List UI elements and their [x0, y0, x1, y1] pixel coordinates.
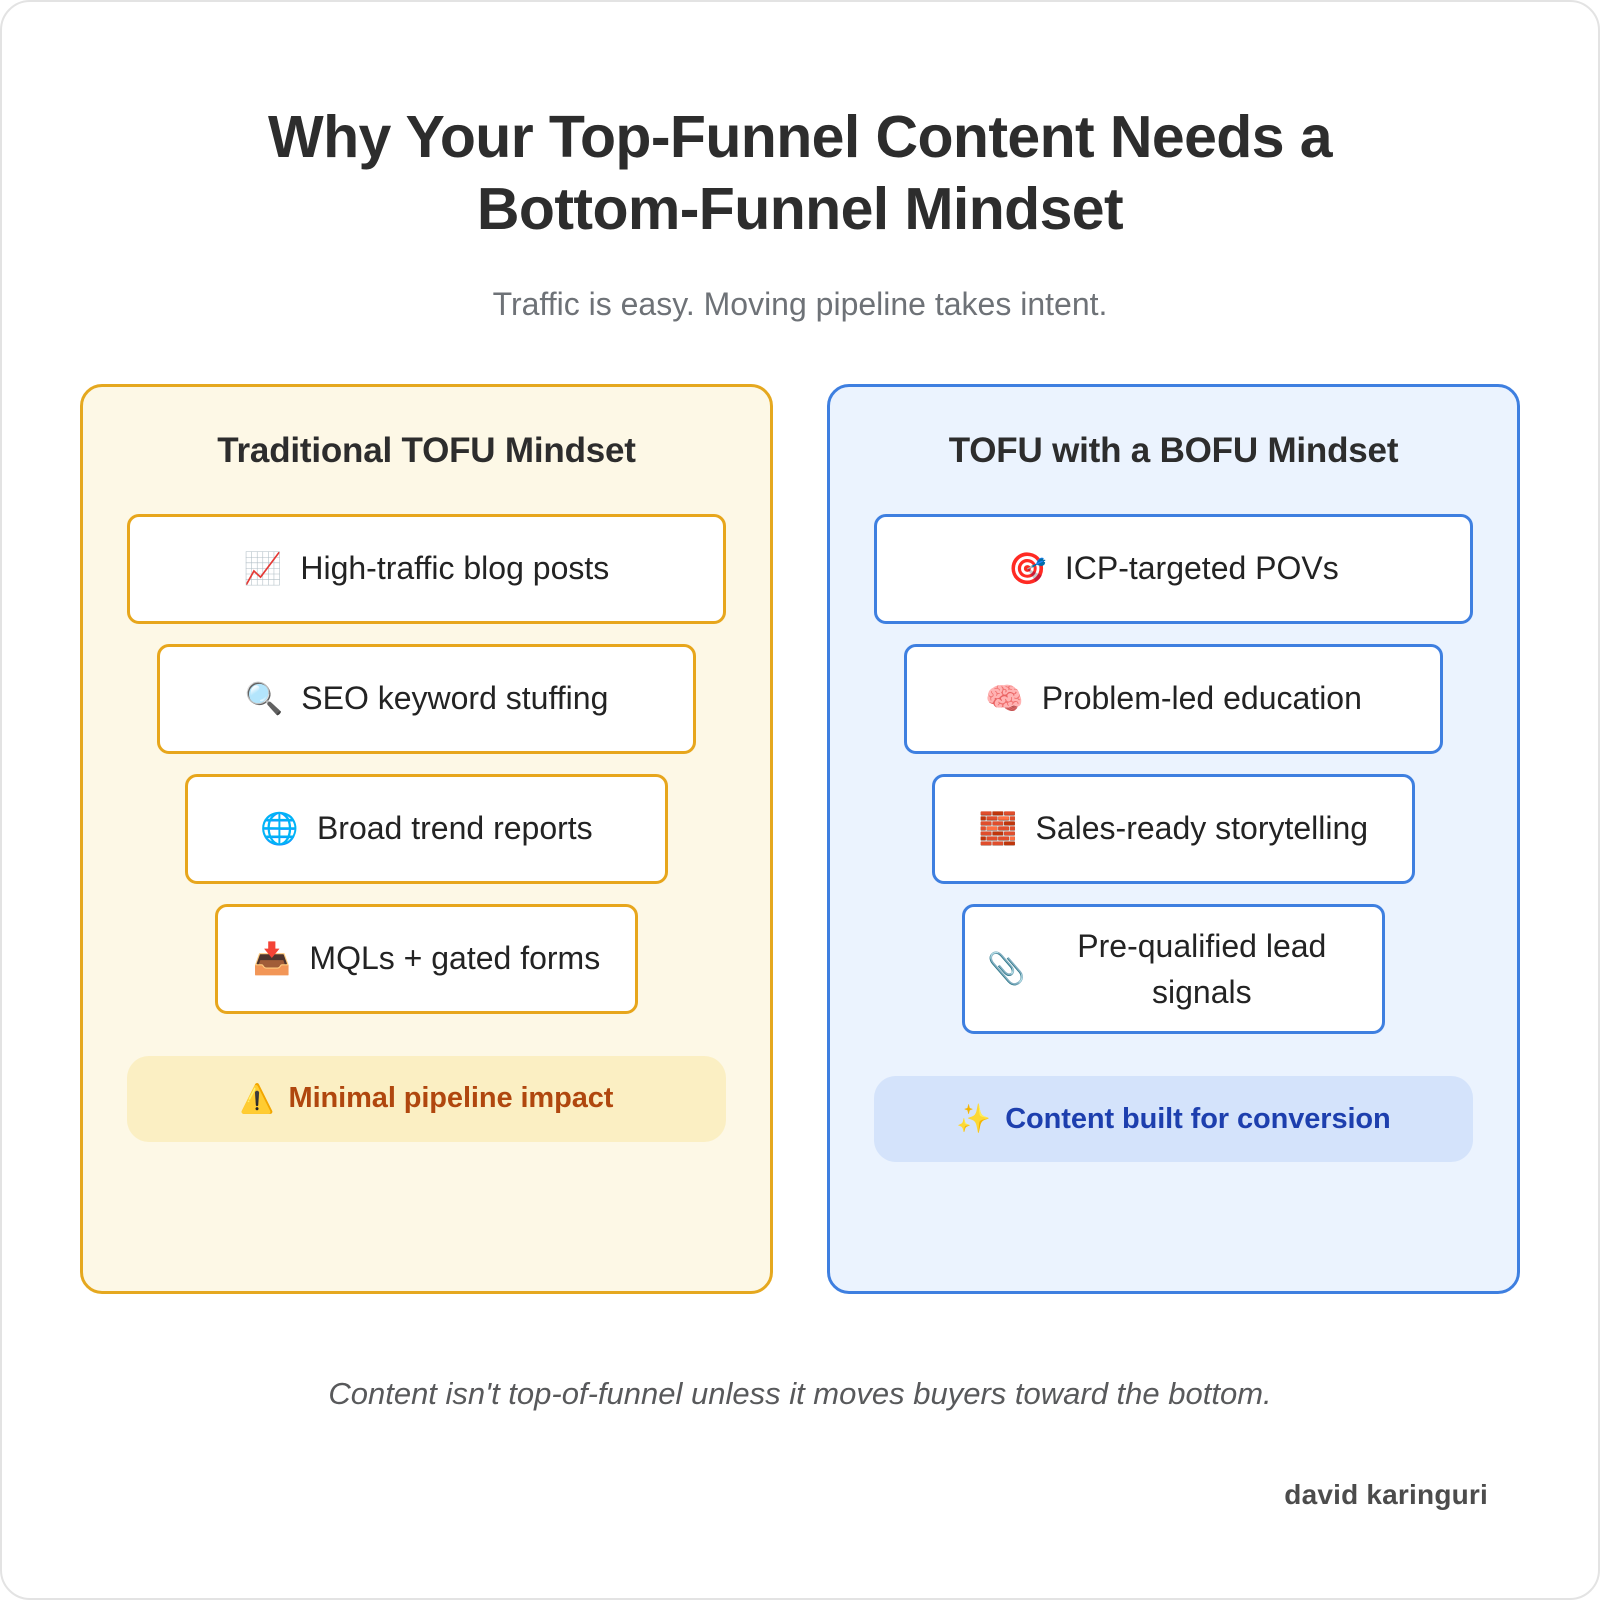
- inbox-tray-icon: 📥: [253, 943, 292, 974]
- paperclip-icon: 📎: [987, 953, 1026, 984]
- item-label: ICP-targeted POVs: [1065, 545, 1339, 591]
- magnifying-glass-icon: 🔍: [245, 683, 284, 714]
- sparkles-icon: ✨: [956, 1105, 991, 1133]
- page-title: Why Your Top-Funnel Content Needs a Bott…: [155, 102, 1445, 246]
- brain-icon: 🧠: [985, 683, 1024, 714]
- attribution: david karinguri: [2, 1479, 1598, 1511]
- item-label: SEO keyword stuffing: [301, 675, 608, 721]
- item-label: Problem-led education: [1042, 675, 1362, 721]
- badge-label: Content built for conversion: [1005, 1103, 1390, 1136]
- panel-title-traditional-tofu: Traditional TOFU Mindset: [217, 431, 635, 471]
- item-card-problem-led-education[interactable]: 🧠 Problem-led education: [904, 644, 1443, 754]
- item-card-seo-keyword-stuffing[interactable]: 🔍 SEO keyword stuffing: [157, 644, 696, 754]
- status-badge-content-built-for-conversion: ✨ Content built for conversion: [874, 1076, 1473, 1162]
- chart-increasing-icon: 📈: [244, 553, 283, 584]
- item-label: High-traffic blog posts: [300, 545, 609, 591]
- page-subtitle: Traffic is easy. Moving pipeline takes i…: [152, 284, 1448, 326]
- bullseye-icon: 🎯: [1008, 553, 1047, 584]
- item-card-mqls-gated-forms[interactable]: 📥 MQLs + gated forms: [215, 904, 637, 1014]
- footer-quote: Content isn't top-of-funnel unless it mo…: [152, 1372, 1448, 1415]
- infographic-page: Why Your Top-Funnel Content Needs a Bott…: [0, 0, 1600, 1600]
- item-list-tofu-with-bofu: 🎯 ICP-targeted POVs 🧠 Problem-led educat…: [874, 514, 1473, 1035]
- item-list-traditional-tofu: 📈 High-traffic blog posts 🔍 SEO keyword …: [127, 514, 726, 1014]
- globe-icon: 🌐: [260, 813, 299, 844]
- item-card-broad-trend-reports[interactable]: 🌐 Broad trend reports: [185, 774, 667, 884]
- item-card-icp-targeted-povs[interactable]: 🎯 ICP-targeted POVs: [874, 514, 1473, 624]
- item-label: Pre-qualified lead signals: [1044, 923, 1360, 1016]
- item-card-high-traffic-blog-posts[interactable]: 📈 High-traffic blog posts: [127, 514, 726, 624]
- comparison-panels: Traditional TOFU Mindset 📈 High-traffic …: [2, 384, 1598, 1294]
- badge-label: Minimal pipeline impact: [289, 1082, 614, 1115]
- item-label: Sales-ready storytelling: [1036, 805, 1369, 851]
- panel-tofu-with-bofu: TOFU with a BOFU Mindset 🎯 ICP-targeted …: [827, 384, 1520, 1294]
- brick-icon: 🧱: [979, 813, 1018, 844]
- footer: Content isn't top-of-funnel unless it mo…: [2, 1372, 1598, 1415]
- status-badge-minimal-pipeline-impact: ⚠️ Minimal pipeline impact: [127, 1056, 726, 1142]
- panel-traditional-tofu: Traditional TOFU Mindset 📈 High-traffic …: [80, 384, 773, 1294]
- item-label: MQLs + gated forms: [309, 935, 600, 981]
- item-card-sales-ready-storytelling[interactable]: 🧱 Sales-ready storytelling: [932, 774, 1414, 884]
- panel-title-tofu-with-bofu: TOFU with a BOFU Mindset: [949, 431, 1399, 471]
- warning-icon: ⚠️: [240, 1085, 275, 1113]
- item-label: Broad trend reports: [317, 805, 593, 851]
- item-card-pre-qualified-lead-signals[interactable]: 📎 Pre-qualified lead signals: [962, 904, 1384, 1035]
- header: Why Your Top-Funnel Content Needs a Bott…: [2, 2, 1598, 326]
